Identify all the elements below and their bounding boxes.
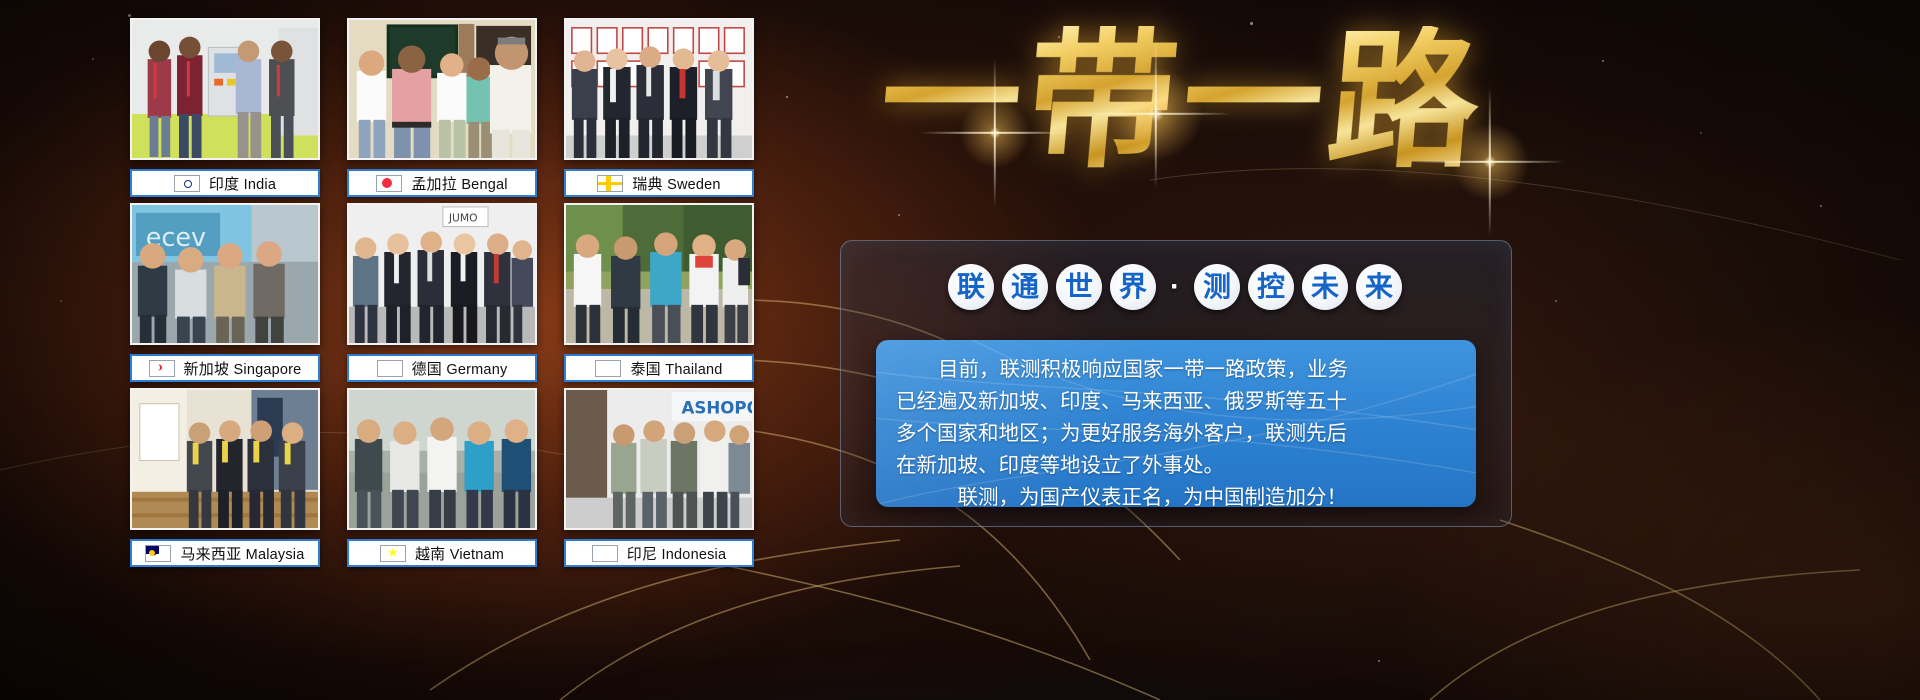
slogan-char-bubble: 控 <box>1248 264 1294 310</box>
photo-sweden <box>564 18 754 160</box>
gallery-cell-thailand[interactable]: 泰国 Thailand <box>564 203 754 382</box>
caption-malaysia: 马来西亚 Malaysia <box>130 539 320 567</box>
caption-thailand: 泰国 Thailand <box>564 354 754 382</box>
slogan-char-bubble: 联 <box>948 264 994 310</box>
flag-thailand-icon <box>595 360 621 377</box>
description-line: 在新加坡、印度等地设立了外事处。 <box>896 449 1456 481</box>
headline-char-3: 一 <box>1177 31 1329 171</box>
gallery-cell-malaysia[interactable]: 马来西亚 Malaysia <box>130 388 320 567</box>
slogan-char-bubble: 世 <box>1056 264 1102 310</box>
photo-indonesia: ASHOPOFT <box>564 388 754 530</box>
photo-thailand <box>564 203 754 345</box>
flag-vietnam-icon <box>380 545 406 562</box>
headline-char-2: 带 <box>1020 26 1183 176</box>
caption-label-vietnam: 越南 Vietnam <box>415 543 504 564</box>
description-line: 目前，联测积极响应国家一带一路政策，业务 <box>896 353 1456 385</box>
photo-malaysia <box>130 388 320 530</box>
svg-text:JUMO: JUMO <box>448 212 478 225</box>
caption-vietnam: 越南 Vietnam <box>347 539 537 567</box>
description-box: 目前，联测积极响应国家一带一路政策，业务 已经遍及新加坡、印度、马来西亚、俄罗斯… <box>876 340 1476 507</box>
caption-label-malaysia: 马来西亚 Malaysia <box>180 543 304 564</box>
flag-sweden-icon <box>597 175 623 192</box>
caption-label-india: 印度 India <box>209 173 276 194</box>
caption-label-bengal: 孟加拉 Bengal <box>411 173 507 194</box>
gallery-cell-sweden[interactable]: 瑞典 Sweden <box>564 18 754 197</box>
description-line: 已经遍及新加坡、印度、马来西亚、俄罗斯等五十 <box>896 385 1456 417</box>
flag-malaysia-icon <box>145 545 171 562</box>
photo-vietnam <box>347 388 537 530</box>
description-line: 多个国家和地区；为更好服务海外客户，联测先后 <box>896 417 1456 449</box>
gallery-cell-indonesia[interactable]: ASHOPOFT 印尼 Indonesia <box>564 388 754 567</box>
flag-indonesia-icon <box>592 545 618 562</box>
description-text: 目前，联测积极响应国家一带一路政策，业务 已经遍及新加坡、印度、马来西亚、俄罗斯… <box>876 340 1476 507</box>
gallery-cell-germany[interactable]: JUMO 德国 Germany <box>347 203 537 382</box>
headline-calligraphy: 一 带 一 路 <box>830 8 1530 193</box>
flag-singapore-icon <box>149 360 175 377</box>
caption-singapore: 新加坡 Singapore <box>130 354 320 382</box>
banner-root: 印度 India <box>0 0 1920 700</box>
flag-germany-icon <box>377 360 403 377</box>
flag-india-icon <box>174 175 200 192</box>
caption-india: 印度 India <box>130 169 320 197</box>
slogan-char-bubble: 未 <box>1302 264 1348 310</box>
gallery-cell-vietnam[interactable]: 越南 Vietnam <box>347 388 537 567</box>
caption-germany: 德国 Germany <box>347 354 537 382</box>
slogan-separator: · <box>1164 270 1186 304</box>
slogan-char-bubble: 来 <box>1356 264 1402 310</box>
headline-char-1: 一 <box>875 31 1027 171</box>
slogan-char-bubble: 通 <box>1002 264 1048 310</box>
slogan-char-bubble: 测 <box>1194 264 1240 310</box>
caption-label-indonesia: 印尼 Indonesia <box>627 543 726 564</box>
gallery-cell-india[interactable]: 印度 India <box>130 18 320 197</box>
description-line: 联测，为国产仪表正名，为中国制造加分！ <box>896 481 1456 507</box>
gallery-cell-singapore[interactable]: ecev 新加坡 Singapore <box>130 203 320 382</box>
photo-india <box>130 18 320 160</box>
svg-text:ASHOPOFT: ASHOPOFT <box>682 398 752 417</box>
caption-label-germany: 德国 Germany <box>412 358 508 379</box>
slogan-char-bubble: 界 <box>1110 264 1156 310</box>
caption-sweden: 瑞典 Sweden <box>564 169 754 197</box>
photo-germany: JUMO <box>347 203 537 345</box>
caption-label-singapore: 新加坡 Singapore <box>184 358 302 379</box>
caption-bengal: 孟加拉 Bengal <box>347 169 537 197</box>
photo-bengal <box>347 18 537 160</box>
headline-char-4: 路 <box>1322 26 1485 176</box>
slogan-bar: 联 通 世 界 · 测 控 未 来 <box>840 256 1510 318</box>
country-photo-grid: 印度 India <box>130 18 755 584</box>
caption-label-thailand: 泰国 Thailand <box>630 358 722 379</box>
flag-bangladesh-icon <box>376 175 402 192</box>
gallery-cell-bengal[interactable]: 孟加拉 Bengal <box>347 18 537 197</box>
caption-indonesia: 印尼 Indonesia <box>564 539 754 567</box>
caption-label-sweden: 瑞典 Sweden <box>632 173 720 194</box>
photo-singapore: ecev <box>130 203 320 345</box>
